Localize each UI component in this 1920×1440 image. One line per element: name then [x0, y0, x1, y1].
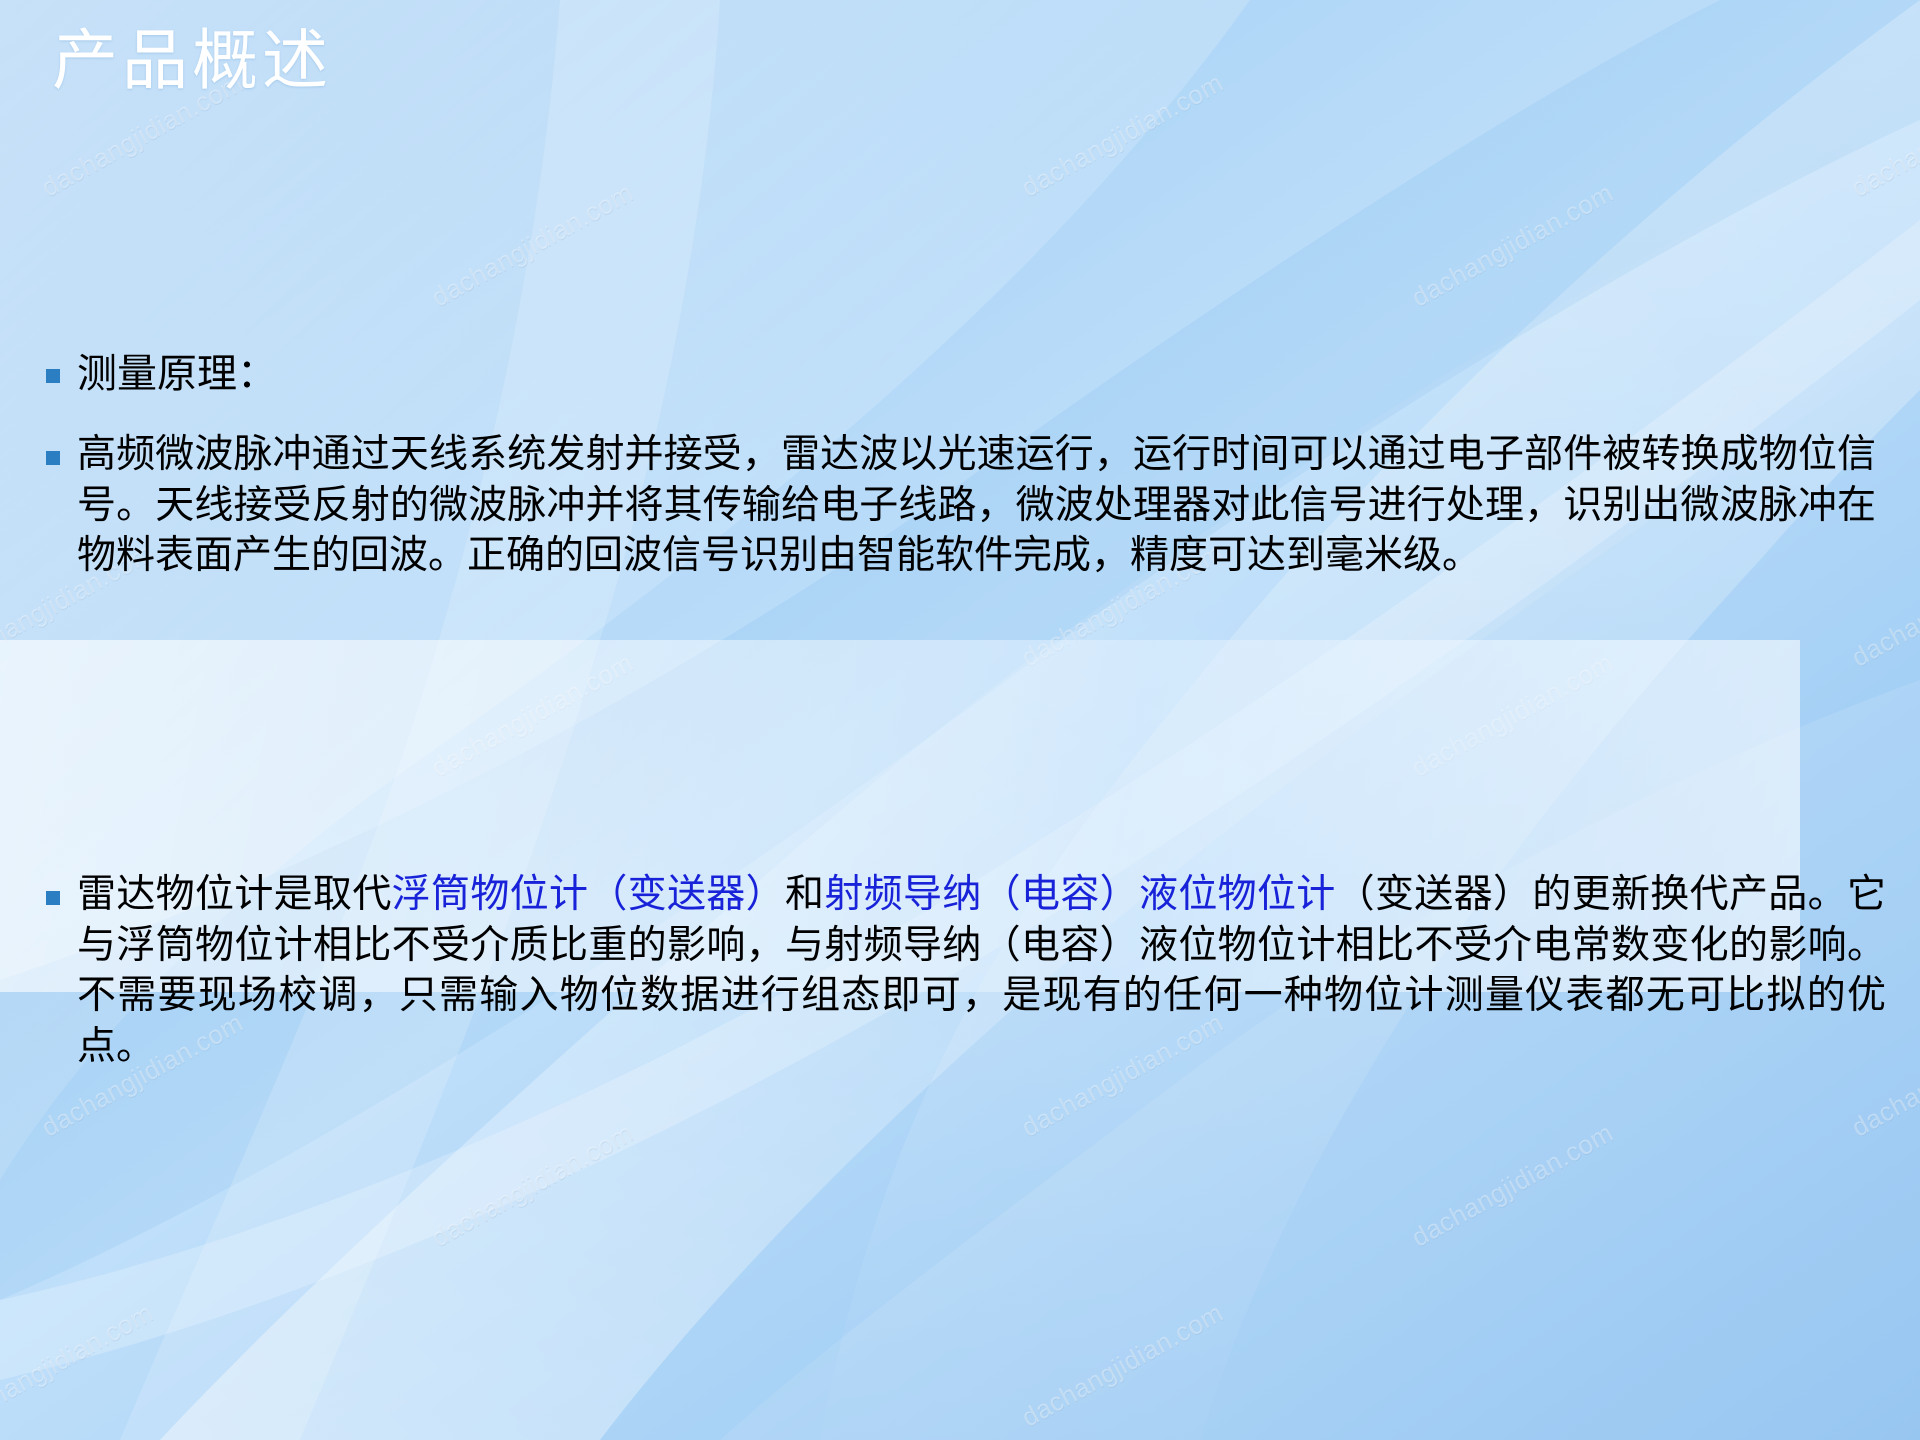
comparison-segment-plain-1: 雷达物位计是取代 [77, 873, 392, 916]
bullet-item-principle: 测量原理： [46, 348, 1876, 400]
bullet-item-paragraph: 高频微波脉冲通过天线系统发射并接受，雷达波以光速运行，运行时间可以通过电子部件被… [46, 430, 1876, 582]
comparison-segment-highlight-2: 射频导纳（电容）液位物位计 [824, 873, 1335, 916]
bullet-square-icon [46, 369, 60, 383]
bullet-item-comparison: 雷达物位计是取代浮筒物位计（变送器）和射频导纳（电容）液位物位计（变送器）的更新… [46, 870, 1886, 1073]
bullet-square-icon [46, 891, 60, 905]
comparison-segment-plain-2: 和 [785, 873, 824, 916]
bullet-paragraph-text: 高频微波脉冲通过天线系统发射并接受，雷达波以光速运行，运行时间可以通过电子部件被… [77, 430, 1876, 582]
slide-canvas: dachangjidian.com dachangjidian.com dach… [0, 0, 1920, 1440]
page-title: 产品概述 [52, 26, 332, 99]
bullet-square-icon [46, 451, 60, 465]
comparison-segment-highlight-1: 浮筒物位计（变送器） [392, 873, 785, 916]
bullet-comparison-text: 雷达物位计是取代浮筒物位计（变送器）和射频导纳（电容）液位物位计（变送器）的更新… [77, 870, 1886, 1073]
bullet-principle-text: 测量原理： [77, 348, 1876, 400]
